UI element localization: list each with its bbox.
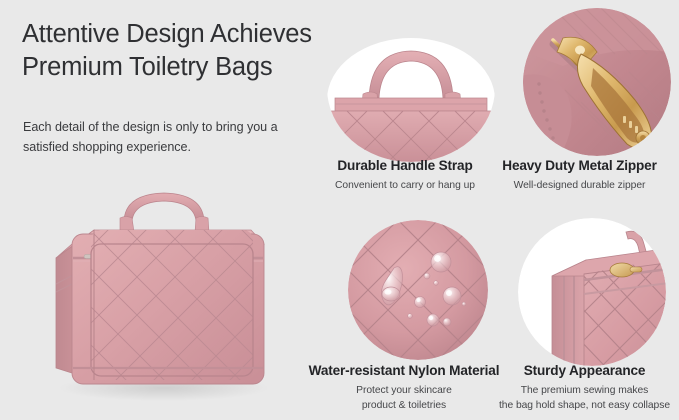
feature-handle-strap: Durable Handle Strap Convenient to carry… <box>300 38 510 198</box>
feature-water-resistant-title: Water-resistant Nylon Material <box>296 363 512 378</box>
feature-water-resistant-desc-line1: Protect your skincare <box>356 385 452 396</box>
feature-water-resistant: Water-resistant Nylon Material Protect y… <box>296 220 512 420</box>
page-subtitle: Each detail of the design is only to bri… <box>23 117 308 158</box>
feature-sturdy-appearance-desc-line2: the bag hold shape, not easy collapse <box>499 400 670 411</box>
feature-handle-strap-title: Durable Handle Strap <box>300 158 510 173</box>
feature-water-resistant-desc-line2: product & toiletries <box>362 400 446 411</box>
hero-product-image <box>36 172 288 412</box>
feature-metal-zipper-image <box>523 8 671 156</box>
feature-metal-zipper: Heavy Duty Metal Zipper Well-designed du… <box>480 8 679 198</box>
feature-sturdy-appearance-image <box>518 218 666 366</box>
feature-metal-zipper-desc: Well-designed durable zipper <box>480 178 679 193</box>
bag-handle <box>120 193 209 234</box>
page-title: Attentive Design Achieves Premium Toilet… <box>22 18 342 83</box>
feature-metal-zipper-title: Heavy Duty Metal Zipper <box>480 158 679 173</box>
feature-water-resistant-image <box>348 220 488 360</box>
feature-water-resistant-desc: Protect your skincare product & toiletri… <box>296 383 512 414</box>
feature-sturdy-appearance-desc: The premium sewing makes the bag hold sh… <box>490 383 679 414</box>
feature-handle-strap-image <box>327 38 495 162</box>
feature-sturdy-appearance-desc-line1: The premium sewing makes <box>521 385 649 396</box>
feature-handle-strap-desc: Convenient to carry or hang up <box>300 178 510 193</box>
feature-sturdy-appearance-title: Sturdy Appearance <box>490 363 679 378</box>
feature-sturdy-appearance: Sturdy Appearance The premium sewing mak… <box>490 218 679 420</box>
product-feature-poster: Attentive Design Achieves Premium Toilet… <box>0 0 679 420</box>
